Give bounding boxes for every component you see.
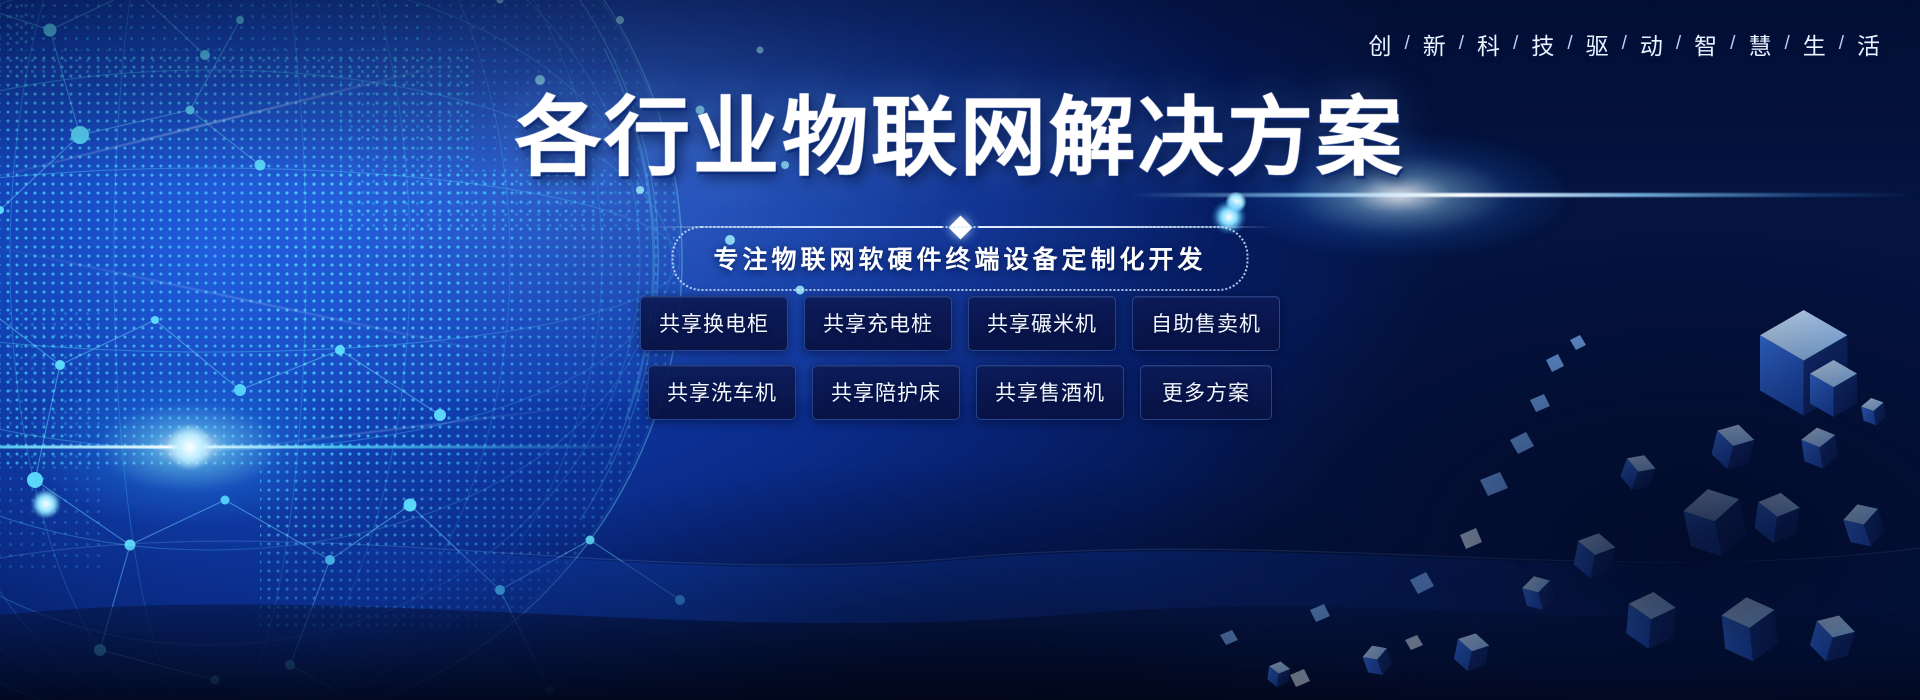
tagline-char: 驱 [1584,27,1613,61]
tagline-separator: / [1558,33,1583,55]
solution-button[interactable]: 共享洗车机 [648,365,796,420]
tagline-char: 生 [1801,27,1830,61]
solution-button[interactable]: 共享换电柜 [640,296,788,351]
page-title: 各行业物联网解决方案 [515,95,1405,181]
tagline-separator: / [1613,33,1638,55]
tagline-char: 技 [1529,27,1558,61]
solution-button-row-1: 共享换电柜共享充电桩共享碾米机自助售卖机 [640,296,1280,351]
tagline: 创/新/科/技/驱/动/智/慧/生/活 [1366,27,1884,61]
tagline-separator: / [1721,33,1746,55]
solution-button[interactable]: 共享陪护床 [812,365,960,420]
solution-button[interactable]: 共享碾米机 [968,296,1116,351]
tagline-separator: / [1667,33,1692,55]
tagline-char: 活 [1855,27,1884,61]
solution-buttons: 共享换电柜共享充电桩共享碾米机自助售卖机 共享洗车机共享陪护床共享售酒机更多方案 [640,296,1280,420]
subtitle: 专注物联网软硬件终端设备定制化开发 [671,226,1248,291]
tagline-char: 新 [1421,27,1450,61]
tagline-separator: / [1395,33,1420,55]
solution-button[interactable]: 共享充电桩 [804,296,952,351]
iot-solutions-banner: 创/新/科/技/驱/动/智/慧/生/活 各行业物联网解决方案 专注物联网软硬件终… [0,0,1920,700]
banner-content: 创/新/科/技/驱/动/智/慧/生/活 各行业物联网解决方案 专注物联网软硬件终… [0,0,1920,700]
solution-button[interactable]: 自助售卖机 [1132,296,1280,351]
solution-button[interactable]: 共享售酒机 [976,365,1124,420]
tagline-separator: / [1830,33,1855,55]
tagline-separator: / [1450,33,1475,55]
solution-button-row-2: 共享洗车机共享陪护床共享售酒机更多方案 [648,365,1272,420]
tagline-char: 创 [1366,27,1395,61]
solution-button[interactable]: 更多方案 [1140,365,1272,420]
tagline-separator: / [1775,33,1800,55]
tagline-char: 动 [1638,27,1667,61]
tagline-char: 智 [1692,27,1721,61]
tagline-separator: / [1504,33,1529,55]
tagline-char: 慧 [1746,27,1775,61]
tagline-char: 科 [1475,27,1504,61]
